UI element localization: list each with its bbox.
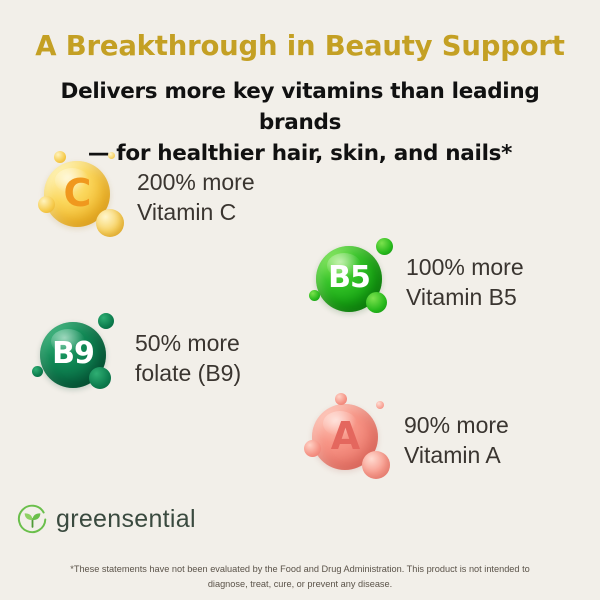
subtitle-line-1: Delivers more key vitamins than leading … [61,79,540,135]
vitamin-b5-letter: B5 [328,263,370,293]
benefit-item-folate-b9: B9 50% more folate (B9) [30,310,241,406]
folate-b9-letter: B9 [52,339,94,369]
folate-b9-bubble-1 [98,313,114,329]
disclaimer-line-2: diagnose, treat, cure, or prevent any di… [30,577,570,592]
folate-b9-line-1: 50% more [135,330,240,356]
promo-poster: A Breakthrough in Beauty Support Deliver… [0,0,600,600]
vitamin-c-bubble-2 [108,152,115,159]
page-title: A Breakthrough in Beauty Support [0,30,600,62]
legal-disclaimer: *These statements have not been evaluate… [30,562,570,592]
vitamin-b5-text: 100% more Vitamin B5 [406,252,524,312]
leaf-sprout-icon [16,503,49,536]
vitamin-a-bubble-3 [304,440,321,457]
benefit-item-vitamin-c: C 200% more Vitamin C [34,149,255,245]
vitamin-a-letter: A [331,417,359,455]
vitamin-a-line-2: Vitamin A [404,440,509,470]
vitamin-b5-badge: B5 [306,234,402,330]
vitamin-a-badge: A [302,392,398,488]
vitamin-c-badge: C [34,149,130,245]
vitamin-a-line-1: 90% more [404,412,509,438]
brand-logo: greensential [16,503,196,536]
vitamin-b5-line-2: Vitamin B5 [406,282,524,312]
vitamin-c-bubble-1 [54,151,66,163]
folate-b9-bubble-3 [32,366,43,377]
vitamin-b5-bubble-3 [309,290,320,301]
folate-b9-text: 50% more folate (B9) [135,328,241,388]
disclaimer-line-1: *These statements have not been evaluate… [70,564,530,574]
vitamin-c-bubble-4 [96,209,124,237]
brand-wordmark: greensential [56,505,196,534]
vitamin-b5-bubble-2 [366,292,387,313]
vitamin-a-bubble-2 [376,401,384,409]
vitamin-c-text: 200% more Vitamin C [137,167,255,227]
vitamin-a-text: 90% more Vitamin A [404,410,509,470]
folate-b9-badge: B9 [30,310,126,406]
benefit-item-vitamin-b5: B5 100% more Vitamin B5 [306,234,524,330]
vitamin-c-line-2: Vitamin C [137,197,255,227]
vitamin-a-bubble-4 [362,451,390,479]
vitamin-b5-bubble-1 [376,238,393,255]
vitamin-c-line-1: 200% more [137,169,255,195]
vitamin-c-bubble-3 [38,196,55,213]
vitamin-c-letter: C [64,174,91,212]
folate-b9-bubble-2 [89,367,111,389]
benefit-item-vitamin-a: A 90% more Vitamin A [302,392,509,488]
vitamin-b5-line-1: 100% more [406,254,524,280]
vitamin-a-bubble-1 [335,393,347,405]
folate-b9-line-2: folate (B9) [135,358,241,388]
